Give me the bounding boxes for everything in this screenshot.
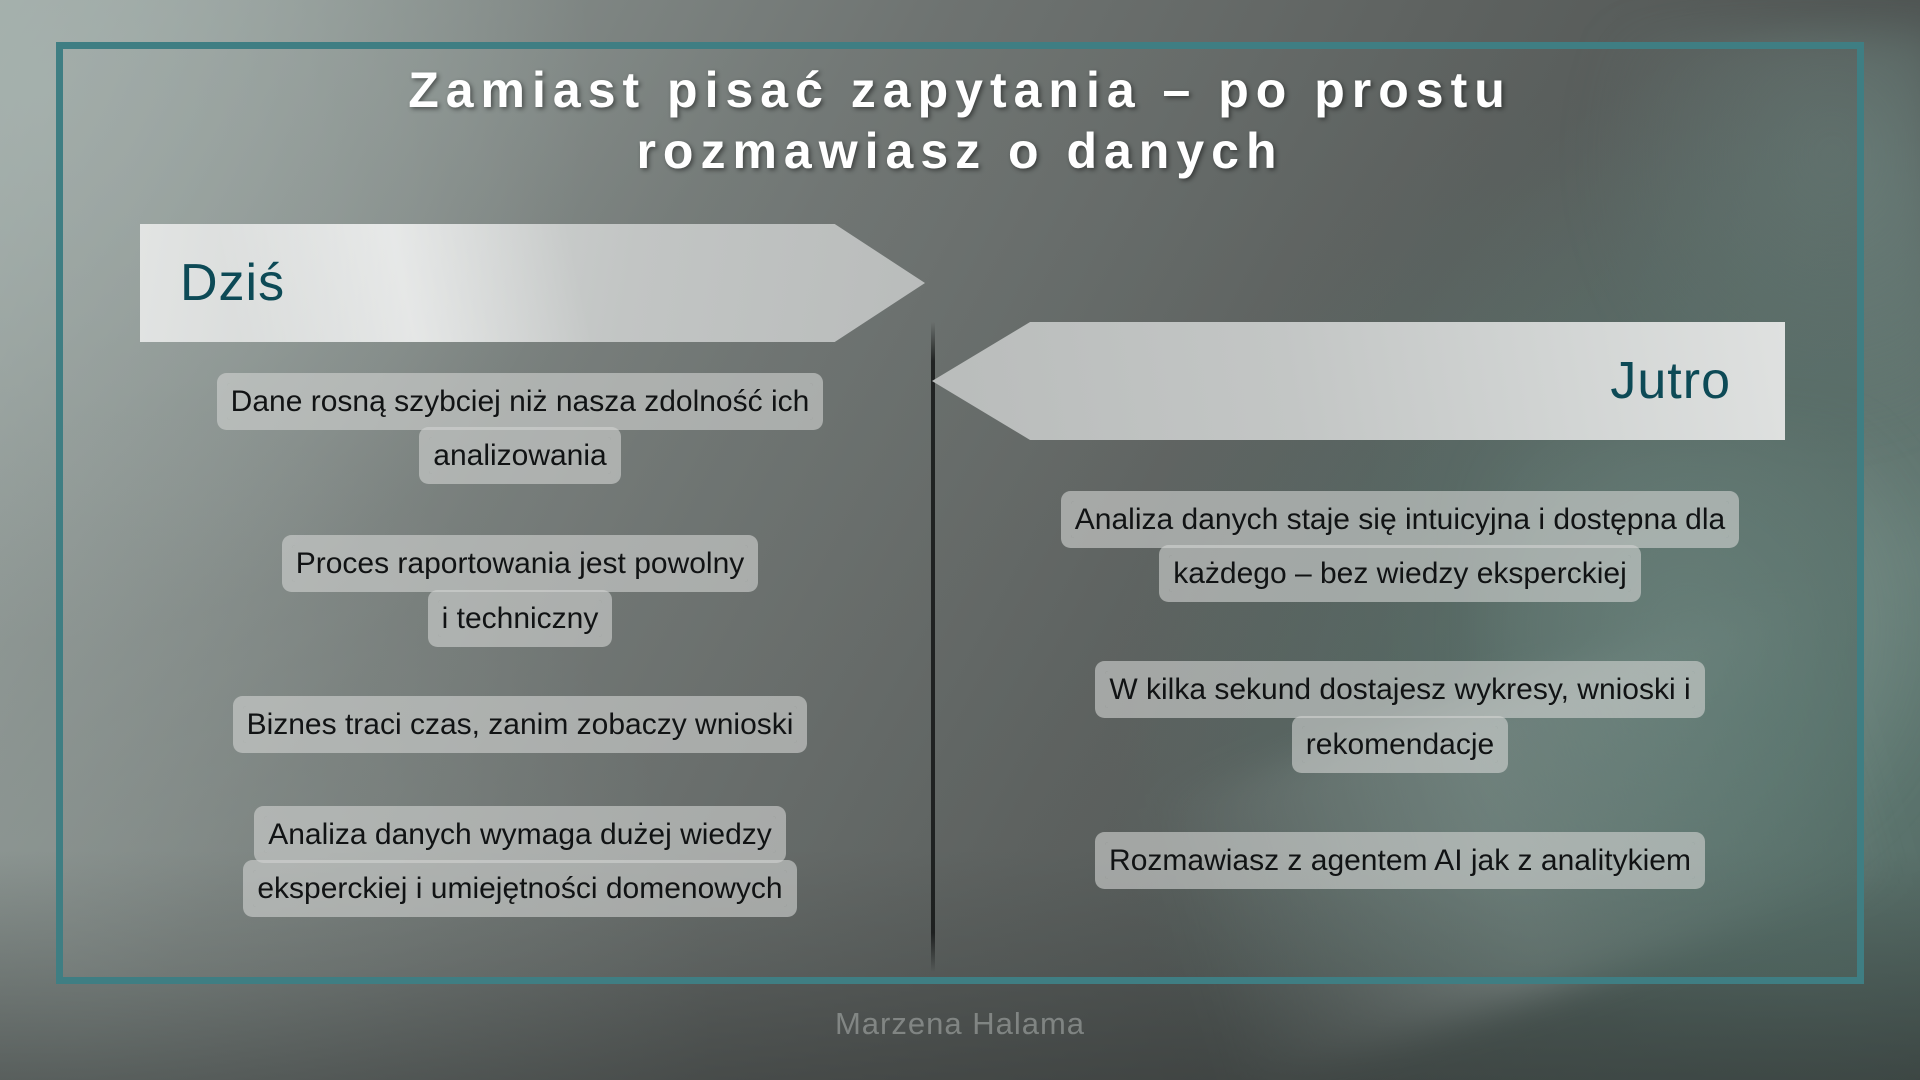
bullet-line-text: eksperckiej i umiejętności domenowych	[253, 870, 786, 907]
bullet-bubble: Analiza danych wymaga dużej wiedzyeksper…	[253, 815, 786, 923]
bullet-line-text: każdego – bez wiedzy eksperckiej	[1169, 555, 1631, 592]
slide-title: Zamiast pisać zapytania – po prostu rozm…	[56, 60, 1864, 182]
bullet-line: Proces raportowania jest powolny	[292, 544, 749, 584]
bullet-bubble: Rozmawiasz z agentem AI jak z analitykie…	[1105, 841, 1695, 895]
banner-today: Dziś	[140, 224, 925, 342]
banner-tomorrow: Jutro	[932, 322, 1785, 440]
bullet-line: Analiza danych wymaga dużej wiedzy	[253, 815, 786, 855]
bullet-line: Biznes traci czas, zanim zobaczy wnioski	[243, 705, 798, 745]
bullet-bubble: Biznes traci czas, zanim zobaczy wnioski	[243, 705, 798, 759]
bullet-line-text: Proces raportowania jest powolny	[292, 545, 749, 582]
bullet-line: rekomendacje	[1105, 725, 1694, 765]
bullet-line-text: Rozmawiasz z agentem AI jak z analitykie…	[1105, 842, 1695, 879]
bullet-line-text: W kilka sekund dostajesz wykresy, wniosk…	[1105, 671, 1694, 708]
column-divider	[931, 322, 935, 972]
bullet-line-text: Analiza danych staje się intuicyjna i do…	[1071, 501, 1729, 538]
bullet-bubble: Proces raportowania jest powolnyi techni…	[292, 544, 749, 652]
tomorrow-bullet-list: Analiza danych staje się intuicyjna i do…	[1020, 500, 1780, 929]
bullet-line: każdego – bez wiedzy eksperckiej	[1071, 554, 1729, 594]
bullet-line: analizowania	[227, 436, 814, 476]
bullet-bubble: Dane rosną szybciej niż nasza zdolność i…	[227, 382, 814, 490]
bullet-line: Analiza danych staje się intuicyjna i do…	[1071, 500, 1729, 540]
today-bullet-list: Dane rosną szybciej niż nasza zdolność i…	[200, 382, 840, 957]
presentation-slide: Zamiast pisać zapytania – po prostu rozm…	[0, 0, 1920, 1080]
bullet-line: Rozmawiasz z agentem AI jak z analitykie…	[1105, 841, 1695, 881]
bullet-line: eksperckiej i umiejętności domenowych	[253, 869, 786, 909]
banner-tomorrow-label: Jutro	[1610, 351, 1731, 411]
bullet-line: i techniczny	[292, 599, 749, 639]
title-line-2: rozmawiasz o danych	[56, 121, 1864, 182]
slide-footer-author: Marzena Halama	[0, 1006, 1920, 1042]
banner-today-label: Dziś	[180, 253, 285, 313]
bullet-bubble: W kilka sekund dostajesz wykresy, wniosk…	[1105, 670, 1694, 778]
bullet-bubble: Analiza danych staje się intuicyjna i do…	[1071, 500, 1729, 608]
bullet-line: Dane rosną szybciej niż nasza zdolność i…	[227, 382, 814, 422]
title-line-1: Zamiast pisać zapytania – po prostu	[56, 60, 1864, 121]
bullet-line: W kilka sekund dostajesz wykresy, wniosk…	[1105, 670, 1694, 710]
bullet-line-text: Dane rosną szybciej niż nasza zdolność i…	[227, 383, 814, 420]
bullet-line-text: i techniczny	[438, 600, 603, 637]
bullet-line-text: rekomendacje	[1302, 726, 1498, 763]
bullet-line-text: Analiza danych wymaga dużej wiedzy	[264, 816, 776, 853]
bullet-line-text: analizowania	[429, 437, 610, 474]
bullet-line-text: Biznes traci czas, zanim zobaczy wnioski	[243, 706, 798, 743]
